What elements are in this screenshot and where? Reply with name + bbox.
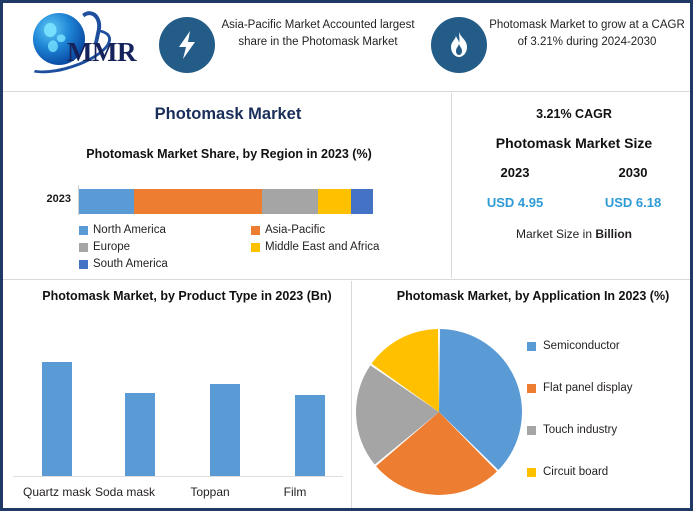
cagr-value: 3.21% CAGR — [455, 107, 693, 121]
base-year-value: USD 4.95 — [465, 195, 565, 210]
region-legend-item: Europe — [79, 241, 130, 253]
legend-swatch-icon — [527, 468, 536, 477]
legend-swatch-icon — [251, 226, 260, 235]
application-legend-label: Touch industry — [543, 424, 617, 436]
product-axis-label: Toppan — [179, 485, 241, 499]
region-segment-europe — [262, 189, 318, 214]
application-legend-label: Semiconductor — [543, 340, 620, 352]
page-title: Photomask Market — [3, 105, 453, 124]
application-chart-title: Photomask Market, by Application In 2023… — [383, 287, 683, 305]
region-chart-category-label: 2023 — [23, 193, 71, 205]
region-chart-title: Photomask Market Share, by Region in 202… — [39, 145, 419, 163]
lightning-bolt-icon — [159, 17, 215, 73]
region-legend-label: South America — [93, 258, 168, 270]
market-size-heading: Photomask Market Size — [455, 135, 693, 151]
header-highlight-2: Photomask Market to grow at a CAGR of 3.… — [487, 17, 687, 50]
region-legend-item: Middle East and Africa — [251, 241, 379, 253]
header-bar: MMR Asia-Pacific Market Accounted larges… — [3, 3, 690, 89]
flame-icon — [431, 17, 487, 73]
product-axis-label: Film — [269, 485, 321, 499]
region-legend-item: North America — [79, 224, 166, 236]
region-legend-label: Asia-Pacific — [265, 224, 325, 236]
region-legend-item: Asia-Pacific — [251, 224, 325, 236]
region-legend-label: Middle East and Africa — [265, 241, 379, 253]
header-highlight-1: Asia-Pacific Market Accounted largest sh… — [215, 17, 421, 50]
region-legend-item: South America — [79, 258, 168, 270]
application-legend-item: Semiconductor — [527, 340, 620, 352]
region-legend-label: North America — [93, 224, 166, 236]
product-axis-label: Soda mask — [89, 485, 161, 499]
market-size-unit: Market Size in Billion — [455, 227, 693, 241]
region-segment-middle-east-and-africa — [318, 189, 351, 214]
brand-name: MMR — [67, 37, 136, 68]
product-bar-soda-mask — [125, 393, 155, 476]
product-chart-title: Photomask Market, by Product Type in 202… — [27, 287, 347, 305]
unit-prefix: Market Size in — [516, 227, 595, 241]
region-segment-asia-pacific — [134, 189, 262, 214]
mmr-logo: MMR — [15, 7, 143, 75]
infographic-root: MMR Asia-Pacific Market Accounted larges… — [0, 0, 693, 511]
unit-bold: Billion — [595, 227, 632, 241]
application-legend-item: Circuit board — [527, 466, 608, 478]
region-stacked-bar — [79, 189, 373, 214]
application-legend-label: Circuit board — [543, 466, 608, 478]
product-bar-quartz-mask — [42, 362, 72, 476]
forecast-year-value: USD 6.18 — [583, 195, 683, 210]
forecast-year-label: 2030 — [583, 165, 683, 180]
legend-swatch-icon — [79, 226, 88, 235]
region-segment-north-america — [79, 189, 134, 214]
legend-swatch-icon — [527, 384, 536, 393]
application-legend-item: Touch industry — [527, 424, 617, 436]
application-legend-item: Flat panel display — [527, 382, 633, 394]
region-legend-label: Europe — [93, 241, 130, 253]
application-pie-chart — [355, 328, 523, 496]
legend-swatch-icon — [79, 260, 88, 269]
lower-divider-vertical — [351, 281, 352, 508]
application-legend-label: Flat panel display — [543, 382, 633, 394]
product-chart-baseline — [13, 476, 343, 477]
legend-swatch-icon — [251, 243, 260, 252]
region-segment-south-america — [351, 189, 373, 214]
legend-swatch-icon — [527, 342, 536, 351]
mid-divider — [3, 279, 690, 280]
legend-swatch-icon — [79, 243, 88, 252]
legend-swatch-icon — [527, 426, 536, 435]
product-axis-label: Quartz mask — [18, 485, 96, 499]
product-bar-film — [295, 395, 325, 476]
header-divider — [3, 91, 690, 92]
base-year-label: 2023 — [465, 165, 565, 180]
product-bar-toppan — [210, 384, 240, 476]
